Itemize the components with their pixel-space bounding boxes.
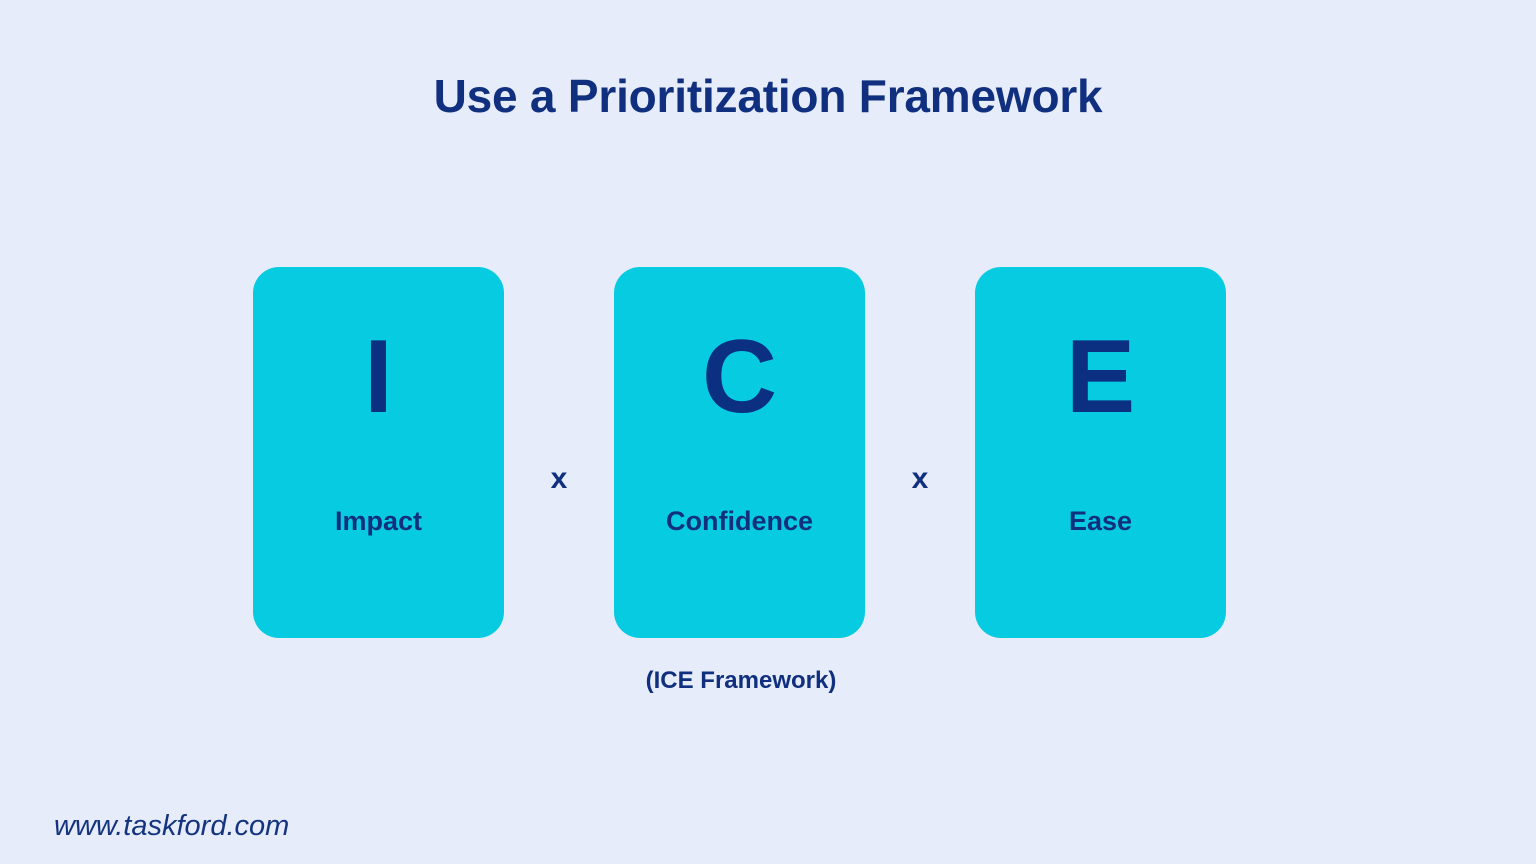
card-letter-impact: I bbox=[253, 325, 504, 429]
framework-card-confidence[interactable]: C Confidence bbox=[614, 267, 865, 638]
card-label-impact: Impact bbox=[253, 505, 504, 537]
page-title: Use a Prioritization Framework bbox=[0, 66, 1536, 126]
card-label-ease: Ease bbox=[975, 505, 1226, 537]
ice-formula-row: I Impact x C Confidence x E Ease bbox=[253, 267, 1226, 638]
framework-card-impact[interactable]: I Impact bbox=[253, 267, 504, 638]
card-letter-confidence: C bbox=[614, 325, 865, 429]
card-label-confidence: Confidence bbox=[614, 505, 865, 537]
footer-website-url: www.taskford.com bbox=[54, 807, 289, 845]
multiply-operator-1: x bbox=[531, 462, 588, 496]
framework-caption: (ICE Framework) bbox=[0, 665, 1482, 697]
framework-card-ease[interactable]: E Ease bbox=[975, 267, 1226, 638]
card-letter-ease: E bbox=[975, 325, 1226, 429]
slide-canvas: Use a Prioritization Framework I Impact … bbox=[0, 0, 1536, 864]
multiply-operator-2: x bbox=[892, 462, 949, 496]
